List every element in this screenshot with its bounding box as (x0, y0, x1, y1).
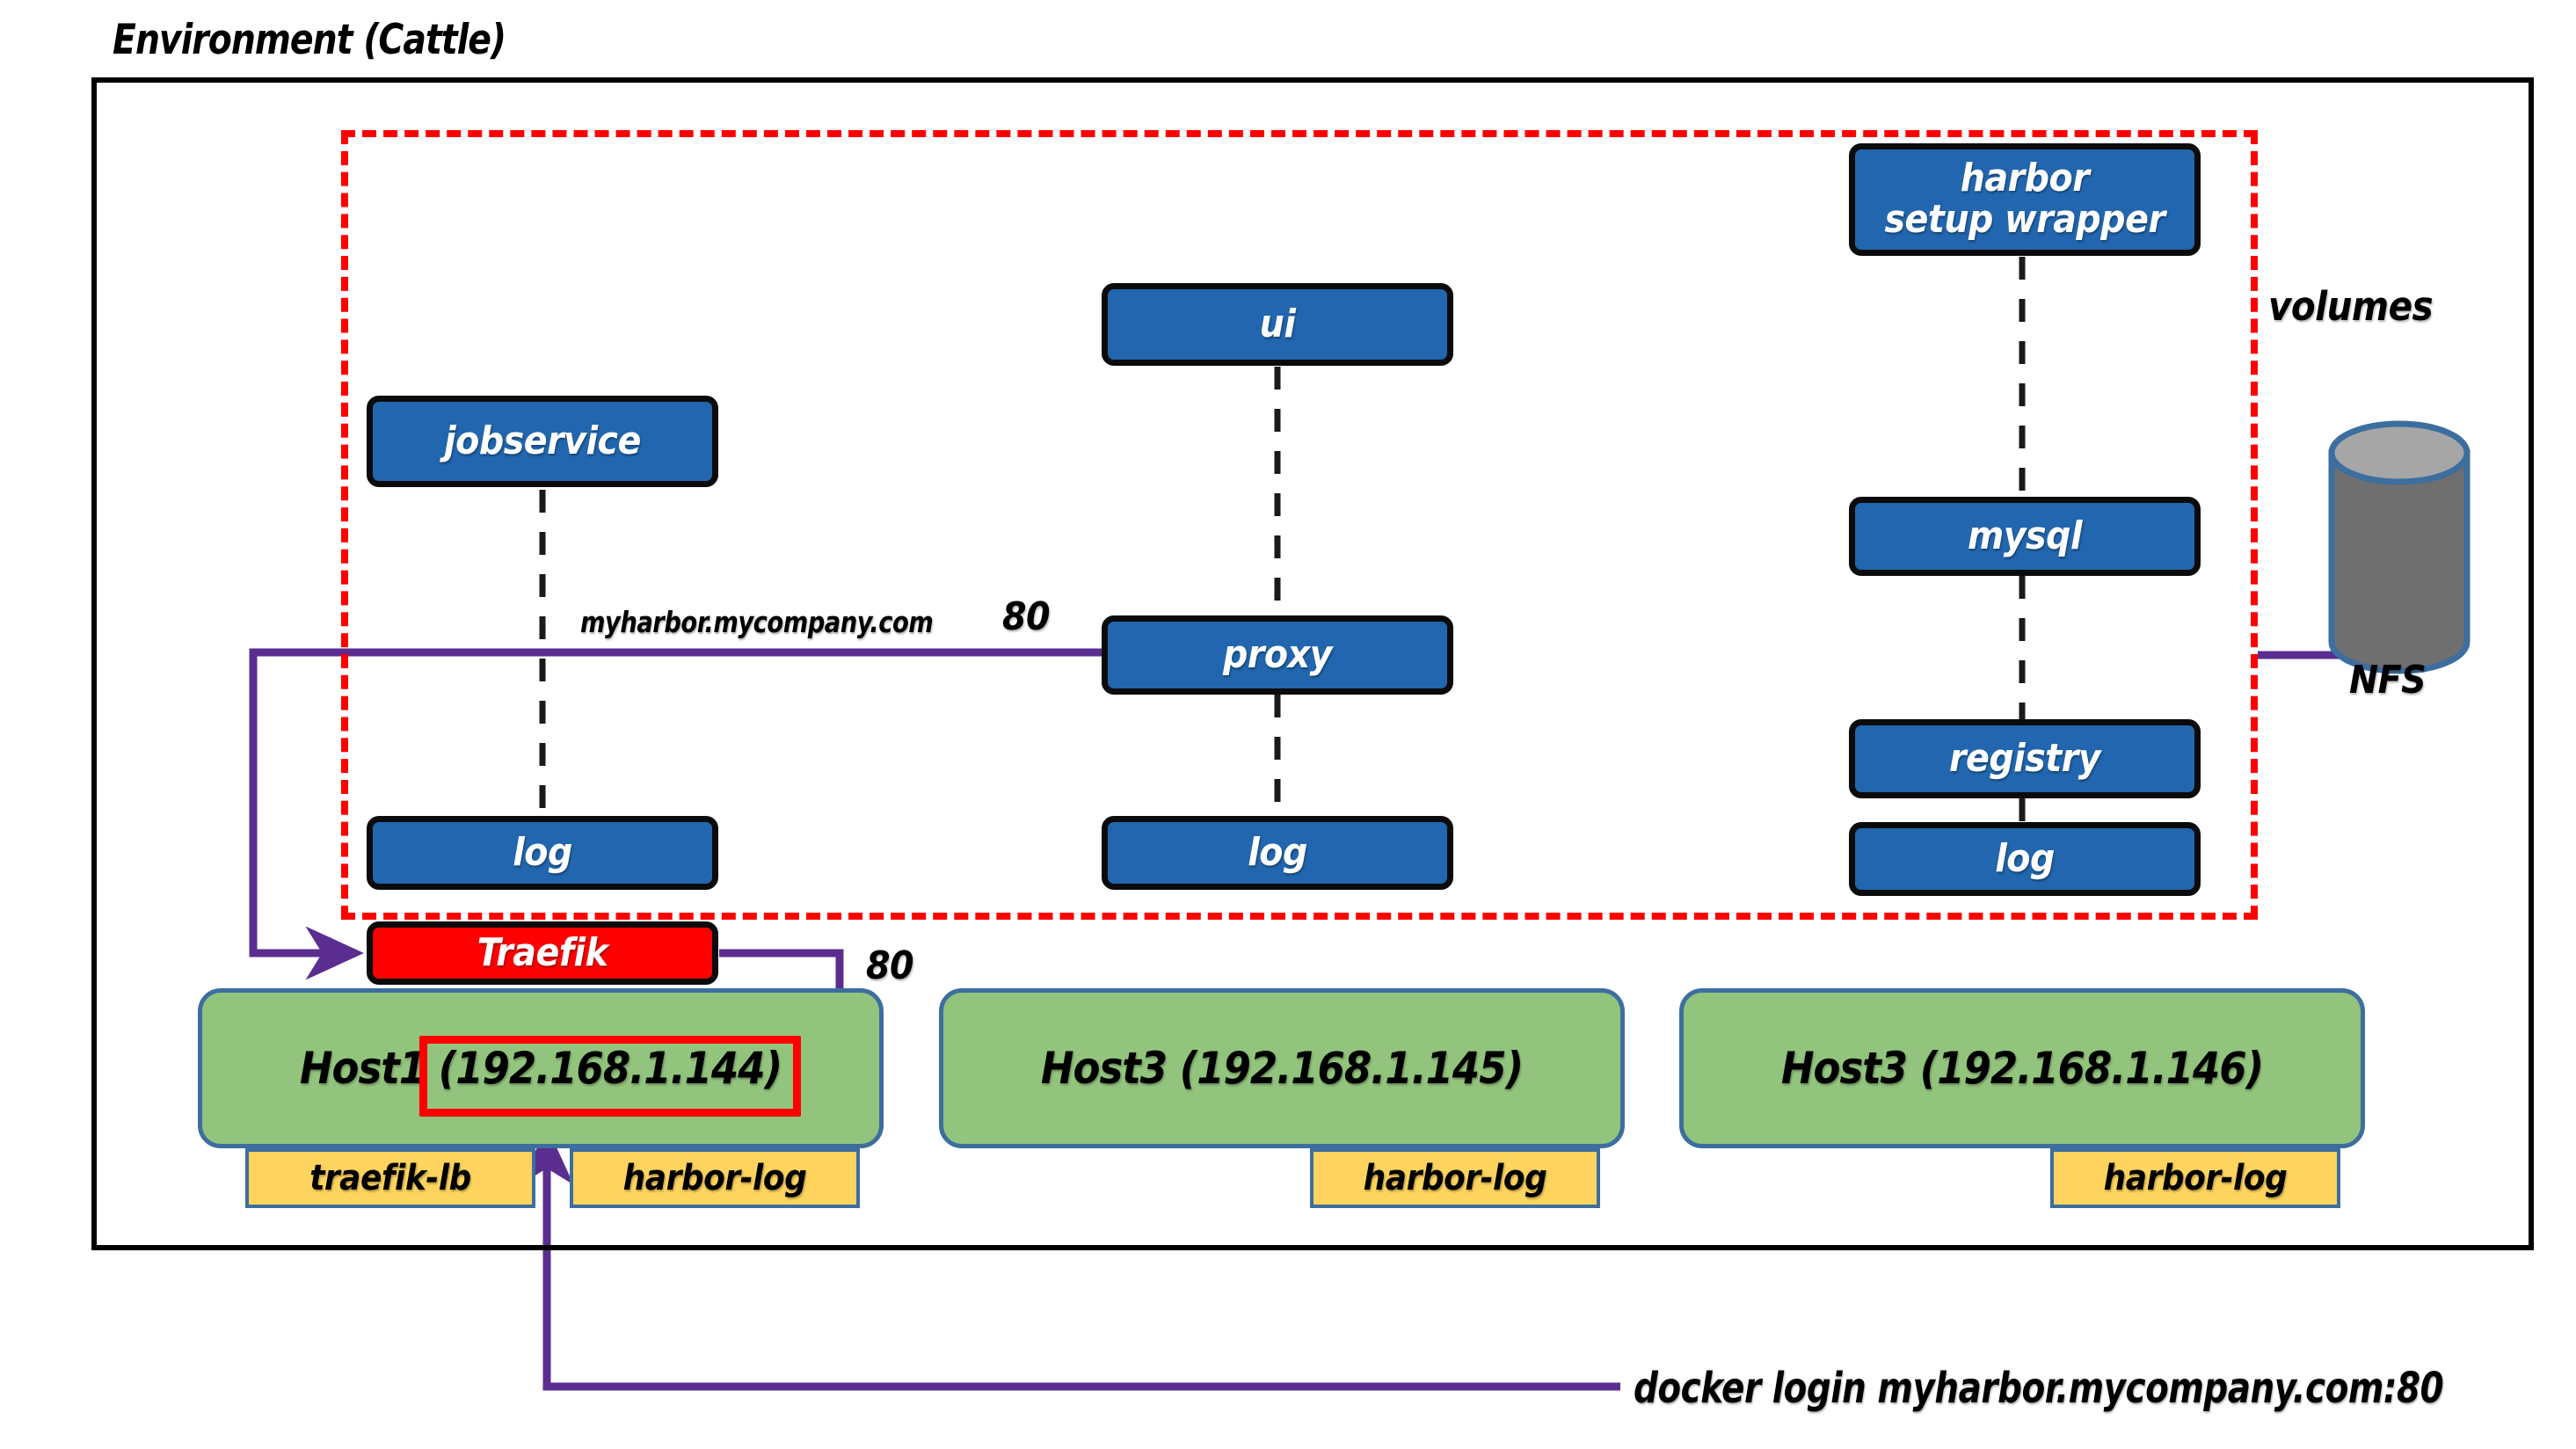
stack-label-traefik-lb[interactable]: traefik-lb (245, 1148, 535, 1208)
annotation-port-traefik: 80 (866, 943, 913, 988)
service-box-registry-log[interactable]: log (1849, 822, 2201, 896)
annotation-nfs: NFS (2349, 658, 2426, 703)
host-box-host3[interactable]: Host3 (192.168.1.146) (1679, 988, 2365, 1148)
host-box-host2[interactable]: Host3 (192.168.1.145) (939, 988, 1625, 1148)
service-box-registry[interactable]: registry (1849, 719, 2201, 798)
service-box-mysql[interactable]: mysql (1849, 497, 2201, 576)
stack-label-harbor-log-host1[interactable]: harbor-log (570, 1148, 860, 1208)
annotation-volumes: volumes (2268, 283, 2433, 330)
service-box-ui[interactable]: ui (1102, 283, 1453, 366)
harbor-wrapper-line2: setup wrapper (1884, 200, 2165, 241)
service-box-jobservice-log[interactable]: log (367, 816, 718, 890)
environment-title: Environment (Cattle) (113, 16, 506, 64)
host1-ip-highlight (419, 1036, 801, 1117)
service-box-harbor-setup-wrapper[interactable]: harbor setup wrapper (1849, 143, 2201, 256)
harbor-wrapper-line1: harbor (1961, 158, 2090, 200)
diagram-canvas: Environment (Cattle) jobservice log ui p… (0, 0, 2576, 1449)
annotation-docker-login: docker login myharbor.mycompany.com:80 (1634, 1364, 2443, 1413)
service-box-proxy-log[interactable]: log (1102, 816, 1453, 890)
annotation-domain: myharbor.mycompany.com (580, 605, 933, 639)
annotation-port-proxy: 80 (1002, 594, 1050, 639)
stack-label-harbor-log-host2[interactable]: harbor-log (1310, 1148, 1600, 1208)
service-box-proxy[interactable]: proxy (1102, 615, 1453, 695)
service-box-traefik[interactable]: Traefik (367, 921, 718, 985)
service-box-jobservice[interactable]: jobservice (367, 396, 718, 487)
stack-label-harbor-log-host3[interactable]: harbor-log (2050, 1148, 2340, 1208)
